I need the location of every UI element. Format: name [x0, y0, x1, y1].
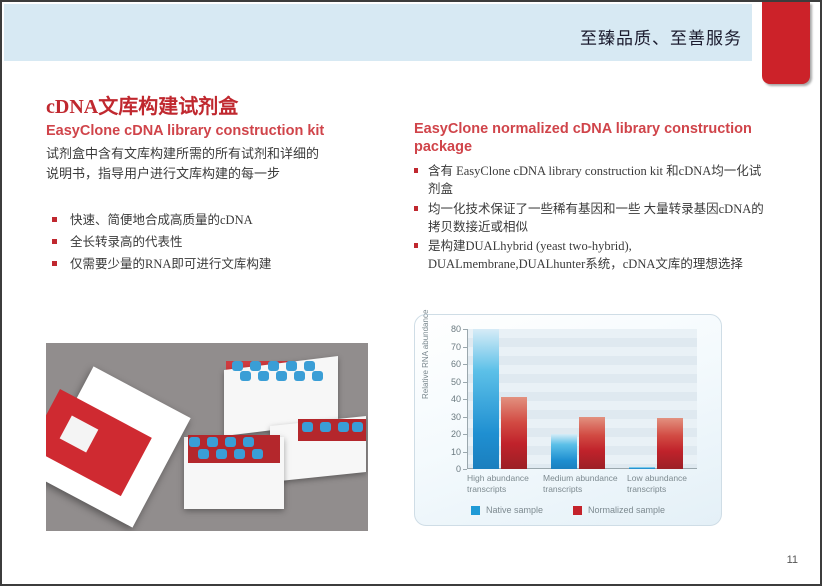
- bar-native-medium: [551, 434, 577, 469]
- list-item: 均一化技术保证了一些稀有基因和一些 大量转录基因cDNA的拷贝数接近或相似: [414, 200, 764, 236]
- list-item: 快速、简便地合成高质量的cDNA: [52, 210, 406, 232]
- y-tick-label: 40: [451, 394, 461, 404]
- slide: 至臻品质、至善服务 cDNA文库构建试剂盒 EasyClone cDNA lib…: [0, 0, 822, 586]
- tray-right: [298, 419, 366, 441]
- legend-label: Normalized sample: [588, 505, 665, 515]
- product-photo: [46, 343, 368, 531]
- y-tick-label: 80: [451, 324, 461, 334]
- list-item: 是构建DUALhybrid (yeast two-hybrid), DUALme…: [414, 237, 764, 273]
- brand-red-tab: [762, 2, 810, 84]
- y-tick-label: 30: [451, 412, 461, 422]
- right-title-en: EasyClone normalized cDNA library constr…: [414, 120, 764, 156]
- y-tick-label: 20: [451, 429, 461, 439]
- tray-middle: [188, 435, 280, 463]
- legend-label: Native sample: [486, 505, 543, 515]
- right-bullet-list: 含有 EasyClone cDNA library construction k…: [414, 162, 764, 273]
- page-title-en: EasyClone cDNA library construction kit: [46, 123, 406, 139]
- x-tick-label-medium: Medium abundance transcripts: [543, 473, 627, 495]
- bar-normalized-medium: [579, 417, 605, 470]
- tray-back-caps: [228, 359, 336, 381]
- left-paragraph-line1: 试剂盒中含有文库构建所需的所有试剂和详细的: [46, 144, 406, 164]
- chart-card: Relative RNA abundance 80 70 60 50 40 30…: [414, 314, 722, 526]
- x-label-line1: High abundance: [467, 473, 543, 484]
- left-paragraph-line2: 说明书，指导用户进行文库构建的每一步: [46, 164, 406, 184]
- list-item: 全长转录高的代表性: [52, 232, 406, 254]
- y-tick-label: 60: [451, 359, 461, 369]
- header-slogan: 至臻品质、至善服务: [580, 24, 742, 49]
- x-label-line1: Medium abundance: [543, 473, 627, 484]
- page-number: 11: [787, 554, 798, 566]
- legend-swatch-icon: [471, 506, 480, 515]
- bar-native-low: [629, 467, 655, 469]
- y-tick-label: 10: [451, 447, 461, 457]
- y-tick-label: 0: [456, 464, 461, 474]
- x-tick-label-high: High abundance transcripts: [467, 473, 543, 495]
- x-label-line1: Low abundance: [627, 473, 703, 484]
- chart-legend: Native sample Normalized sample: [415, 505, 721, 515]
- y-tick-label: 70: [451, 342, 461, 352]
- page-title-cn: cDNA文库构建试剂盒: [46, 90, 406, 119]
- legend-item-native: Native sample: [471, 505, 543, 515]
- legend-swatch-icon: [573, 506, 582, 515]
- x-tick-label-low: Low abundance transcripts: [627, 473, 703, 495]
- chart-y-axis: [467, 329, 468, 469]
- legend-item-normalized: Normalized sample: [573, 505, 665, 515]
- x-label-line2: transcripts: [543, 484, 627, 495]
- chart-plot-area: 80 70 60 50 40 30 20 10 0 High abundance…: [467, 329, 697, 469]
- right-column: EasyClone normalized cDNA library constr…: [414, 120, 764, 274]
- bar-native-high: [473, 329, 499, 469]
- bar-normalized-high: [501, 397, 527, 469]
- left-bullet-list: 快速、简便地合成高质量的cDNA 全长转录高的代表性 仅需要少量的RNA即可进行…: [52, 210, 406, 276]
- x-label-line2: transcripts: [467, 484, 543, 495]
- left-column: cDNA文库构建试剂盒 EasyClone cDNA library const…: [46, 90, 406, 276]
- list-item: 含有 EasyClone cDNA library construction k…: [414, 162, 764, 198]
- chart-y-axis-title: Relative RNA abundance: [421, 310, 430, 399]
- y-tick-label: 50: [451, 377, 461, 387]
- x-label-line2: transcripts: [627, 484, 703, 495]
- bar-normalized-low: [657, 418, 683, 469]
- list-item: 仅需要少量的RNA即可进行文库构建: [52, 254, 406, 276]
